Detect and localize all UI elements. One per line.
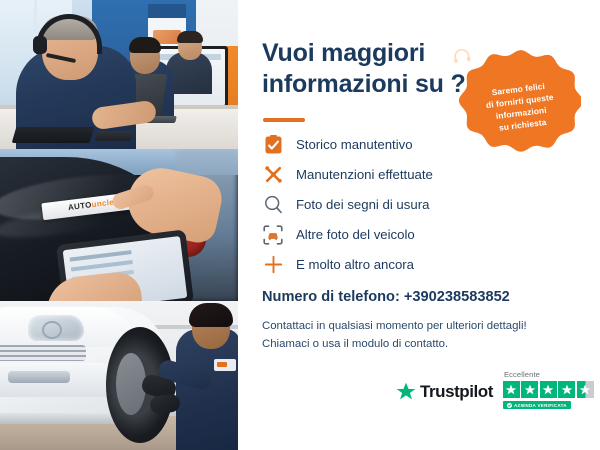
feature-item-altre-foto-veicolo[interactable]: Altre foto del veicolo [262, 220, 522, 249]
trustpilot-rating-label: Eccellente [504, 370, 540, 379]
verified-company-badge: AZIENDA VERIFICATA [503, 401, 571, 409]
contact-line-2: Chiamaci o usa il modulo di contatto. [262, 335, 572, 353]
photo-column: AUTOuncle [0, 0, 238, 450]
keyboard [12, 127, 95, 143]
contact-line-1: Contattaci in qualsiasi momento per ulte… [262, 317, 572, 335]
feature-label: Altre foto del veicolo [296, 227, 415, 242]
headset-icon [452, 48, 472, 64]
trustpilot-logo: Trustpilot [396, 382, 493, 402]
clipboard-check-icon [262, 134, 284, 156]
sticker-label: AUTOuncle [68, 198, 115, 213]
second-agent-hair [129, 37, 161, 53]
promo-card: AUTOuncle [0, 0, 600, 450]
headset-earcup [33, 36, 47, 54]
star-filled-4 [558, 381, 575, 398]
third-agent-hair [177, 31, 203, 43]
star-filled-2 [521, 381, 538, 398]
trustpilot-widget[interactable]: Trustpilot Eccellente [396, 370, 594, 409]
star-filled-1 [503, 381, 520, 398]
verified-label: AZIENDA VERIFICATA [514, 403, 567, 408]
second-keyboard [95, 131, 134, 141]
mechanic-hair [189, 303, 233, 327]
content-panel: Vuoi maggiori informazioni su ? Saremo f… [238, 0, 600, 450]
phone-number-line[interactable]: Numero di telefono: +390238583852 [262, 289, 510, 305]
star-half-5 [577, 381, 594, 398]
feature-label: Foto dei segni di usura [296, 197, 429, 212]
fog-light-vent [8, 371, 70, 383]
magnifier-icon [262, 194, 284, 216]
feature-label: Storico manutentivo [296, 137, 413, 152]
trustpilot-brand-label: Trustpilot [420, 382, 493, 402]
feature-list: Storico manutentivo Manutenzioni effettu… [262, 130, 522, 280]
verified-check-icon [507, 403, 512, 408]
car-headlight [28, 315, 84, 341]
trustpilot-stars [503, 381, 594, 398]
feature-item-molto-altro[interactable]: E molto altro ancora [262, 250, 522, 279]
mechanic-wheel-photo [0, 301, 238, 450]
feature-item-foto-segni-usura[interactable]: Foto dei segni di usura [262, 190, 522, 219]
car-scan-icon [262, 224, 284, 246]
tools-cross-icon [262, 164, 284, 186]
trustpilot-star-icon [396, 382, 416, 402]
title-underline-divider [263, 118, 305, 122]
sticker-on-car-photo: AUTOuncle [0, 149, 238, 301]
feature-label: E molto altro ancora [296, 257, 414, 272]
feature-label: Manutenzioni effettuate [296, 167, 433, 182]
trustpilot-rating-block: Eccellente [503, 370, 594, 409]
star-filled-3 [540, 381, 557, 398]
contact-description: Contattaci in qualsiasi momento per ulte… [262, 317, 572, 354]
uniform-logo-badge [214, 359, 236, 371]
feature-item-manutenzioni-effettuate[interactable]: Manutenzioni effettuate [262, 160, 522, 189]
car-grille [0, 345, 86, 361]
feature-item-storico-manutentivo[interactable]: Storico manutentivo [262, 130, 522, 159]
plus-icon [262, 254, 284, 276]
call-center-agents-photo [0, 0, 238, 149]
